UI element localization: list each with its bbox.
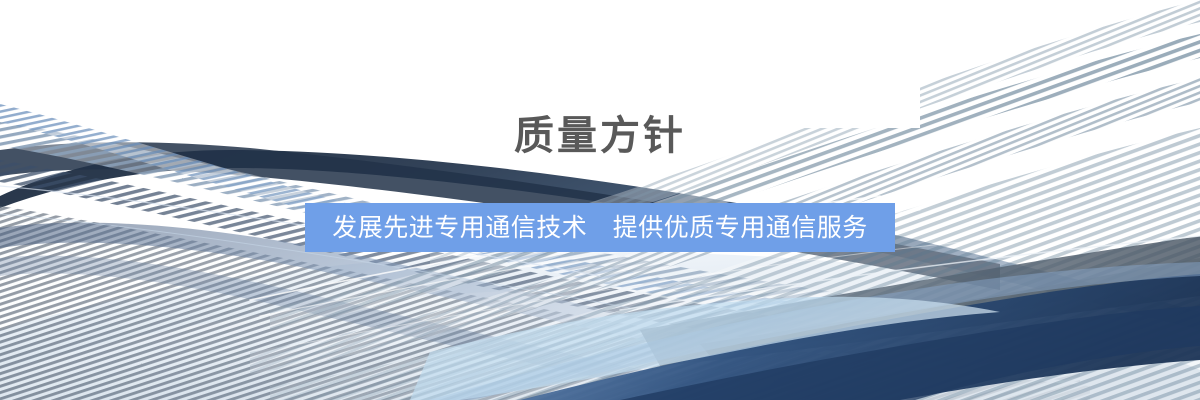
slogan-text: 发展先进专用通信技术 提供优质专用通信服务 [332, 214, 868, 242]
banner-content: 质量方针 发展先进专用通信技术 提供优质专用通信服务 [0, 0, 1200, 400]
slogan-bar: 发展先进专用通信技术 提供优质专用通信服务 [305, 203, 895, 252]
quality-policy-banner: 质量方针 发展先进专用通信技术 提供优质专用通信服务 [0, 0, 1200, 400]
page-title: 质量方针 [0, 112, 1200, 160]
